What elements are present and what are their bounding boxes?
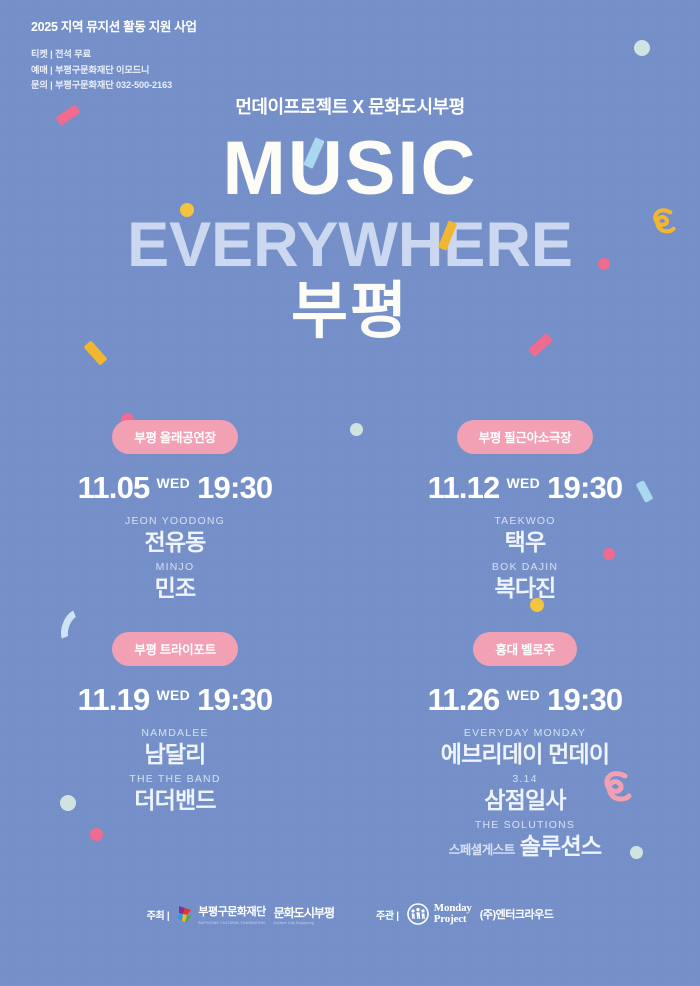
artist-1: EVERYDAY MONDAY에브리데이 먼데이	[350, 727, 700, 768]
bupyeong-foundation-logo: 부평구문화재단 BUPYEONG CULTURAL FOUNDATION	[177, 903, 265, 925]
show-card-3: 부평 트라이포트11.19WED19:30NAMDALEE남달리THE THE …	[0, 630, 350, 864]
people-circle-icon	[407, 903, 429, 925]
header-line-2: 예매 | 부평구문화재단 이모드니	[31, 63, 197, 79]
artist-name-kr-wrap: 남달리	[0, 740, 350, 768]
title-line-everywhere-wrap: EVERYWHERE	[0, 212, 700, 278]
artist-name-kr: 에브리데이 먼데이	[441, 741, 609, 767]
artist-name-kr: 남달리	[144, 741, 205, 767]
artist-name-en: BOK DAJIN	[350, 561, 700, 574]
host-name: 부평구문화재단	[198, 903, 265, 919]
culture-city-name: 문화도시부평	[274, 904, 334, 921]
organizer-name: (주)엔터크라우드	[480, 906, 554, 922]
artist-name-kr: 복다진	[494, 575, 555, 601]
artist-name-en: MINJO	[0, 561, 350, 574]
show-date: 11.12	[428, 470, 500, 506]
artist-name-kr: 삼점일사	[484, 787, 565, 813]
artist-name-kr: 솔루션스	[520, 833, 601, 859]
artist-2: THE THE BAND더더밴드	[0, 773, 350, 814]
artist-name-en: NAMDALEE	[0, 727, 350, 740]
show-datetime: 11.05WED19:30	[0, 470, 350, 506]
pinwheel-icon	[177, 905, 193, 923]
venue-badge[interactable]: 부평 트라이포트	[112, 632, 238, 666]
title-line-everywhere: EVERYWHERE	[127, 212, 573, 278]
culture-city-sub: Culture City Bupyeong	[274, 921, 314, 925]
program-title: 2025 지역 뮤지션 활동 지원 사업	[31, 16, 197, 35]
artist-2: MINJO민조	[0, 561, 350, 602]
artist-1: NAMDALEE남달리	[0, 727, 350, 768]
show-time: 19:30	[197, 682, 272, 718]
show-schedule: 부평 올래공연장11.05WED19:30JEON YOODONG전유동MINJ…	[0, 418, 700, 864]
show-time: 19:30	[197, 470, 272, 506]
artist-name-kr-wrap: 삼점일사	[350, 786, 700, 814]
header-info: 2025 지역 뮤지션 활동 지원 사업 티켓 | 전석 무료예매 | 부평구문…	[31, 16, 197, 94]
show-date: 11.05	[78, 470, 150, 506]
collaboration-line: 먼데이프로젝트 X 문화도시부평	[0, 93, 700, 119]
venue-badge[interactable]: 부평 필근아소극장	[457, 420, 594, 454]
artist-name-en: JEON YOODONG	[0, 515, 350, 528]
show-day-of-week: WED	[507, 475, 541, 491]
artist-name-en: EVERYDAY MONDAY	[350, 727, 700, 740]
show-datetime: 11.19WED19:30	[0, 682, 350, 718]
host-group: 주최 | 부평구문화재단 BUPYEONG CULTURAL FOUNDATIO…	[147, 903, 334, 925]
header-line-3: 문의 | 부평구문화재단 032-500-2163	[31, 78, 197, 94]
show-date: 11.26	[428, 682, 500, 718]
monday-line-2: Project	[434, 913, 467, 925]
organizer-label: 주관 |	[376, 907, 399, 922]
artist-2: 3.14삼점일사	[350, 773, 700, 814]
show-card-1: 부평 올래공연장11.05WED19:30JEON YOODONG전유동MINJ…	[0, 418, 350, 602]
show-card-4: 홍대 벨로주11.26WED19:30EVERYDAY MONDAY에브리데이 …	[350, 630, 700, 864]
artist-1: JEON YOODONG전유동	[0, 515, 350, 556]
artist-name-kr: 전유동	[144, 529, 205, 555]
artist-name-en: TAEKWOO	[350, 515, 700, 528]
header-line-1: 티켓 | 전석 무료	[31, 47, 197, 63]
artist-name-kr: 더더밴드	[134, 787, 215, 813]
artist-name-kr-wrap: 에브리데이 먼데이	[350, 740, 700, 768]
artist-name-kr-wrap: 전유동	[0, 528, 350, 556]
foundation-name-stack: 부평구문화재단 BUPYEONG CULTURAL FOUNDATION	[198, 903, 265, 925]
artist-name-en: 3.14	[350, 773, 700, 786]
show-day-of-week: WED	[157, 475, 191, 491]
footer-credits: 주최 | 부평구문화재단 BUPYEONG CULTURAL FOUNDATIO…	[0, 903, 700, 925]
show-datetime: 11.12WED19:30	[350, 470, 700, 506]
artist-prefix: 스페셜게스트	[449, 843, 515, 857]
title-line-bupyeong-wrap: 부평	[0, 277, 700, 347]
concert-poster: 2025 지역 뮤지션 활동 지원 사업 티켓 | 전석 무료예매 | 부평구문…	[0, 0, 700, 986]
artist-name-kr-wrap: 더더밴드	[0, 786, 350, 814]
show-time: 19:30	[547, 682, 622, 718]
venue-badge[interactable]: 부평 올래공연장	[112, 420, 238, 454]
artist-name-kr-wrap: 민조	[0, 574, 350, 602]
culture-city-logo: 문화도시부평 Culture City Bupyeong	[274, 904, 334, 925]
title-everywhere-text: EVERYWHERE	[127, 210, 573, 280]
artist-1: TAEKWOO택우	[350, 515, 700, 556]
artist-name-kr-wrap: 스페셜게스트솔루션스	[350, 832, 700, 864]
host-name-sub: BUPYEONG CULTURAL FOUNDATION	[198, 921, 264, 925]
show-day-of-week: WED	[157, 687, 191, 703]
title-line-music: MUSIC	[223, 130, 478, 208]
title-music-text: MUSIC	[223, 126, 478, 211]
artist-name-kr-wrap: 택우	[350, 528, 700, 556]
artist-name-kr-wrap: 복다진	[350, 574, 700, 602]
title-line-bupyeong: 부평	[291, 277, 409, 347]
header-detail-lines: 티켓 | 전석 무료예매 | 부평구문화재단 이모드니문의 | 부평구문화재단 …	[31, 47, 197, 94]
show-row: 부평 올래공연장11.05WED19:30JEON YOODONG전유동MINJ…	[0, 418, 700, 602]
artist-name-kr: 민조	[155, 575, 196, 601]
mint-dot-top-right-icon	[634, 40, 650, 56]
artist-2: BOK DAJIN복다진	[350, 561, 700, 602]
organizer-group: 주관 | Monday Project (주)엔터크라우드	[376, 903, 553, 925]
show-day-of-week: WED	[507, 687, 541, 703]
monday-project-wordmark: Monday Project	[434, 903, 472, 925]
venue-badge[interactable]: 홍대 벨로주	[473, 632, 576, 666]
show-time: 19:30	[547, 470, 622, 506]
show-date: 11.19	[78, 682, 150, 718]
show-card-2: 부평 필근아소극장11.12WED19:30TAEKWOO택우BOK DAJIN…	[350, 418, 700, 602]
show-datetime: 11.26WED19:30	[350, 682, 700, 718]
show-row: 부평 트라이포트11.19WED19:30NAMDALEE남달리THE THE …	[0, 630, 700, 864]
artist-name-en: THE THE BAND	[0, 773, 350, 786]
artist-name-kr: 택우	[505, 529, 546, 555]
title-line-music-wrap: MUSIC	[0, 130, 700, 208]
artist-3: THE SOLUTIONS스페셜게스트솔루션스	[350, 819, 700, 864]
monday-project-logo: Monday Project	[407, 903, 472, 925]
host-label: 주최 |	[147, 907, 170, 922]
artist-name-en: THE SOLUTIONS	[350, 819, 700, 832]
